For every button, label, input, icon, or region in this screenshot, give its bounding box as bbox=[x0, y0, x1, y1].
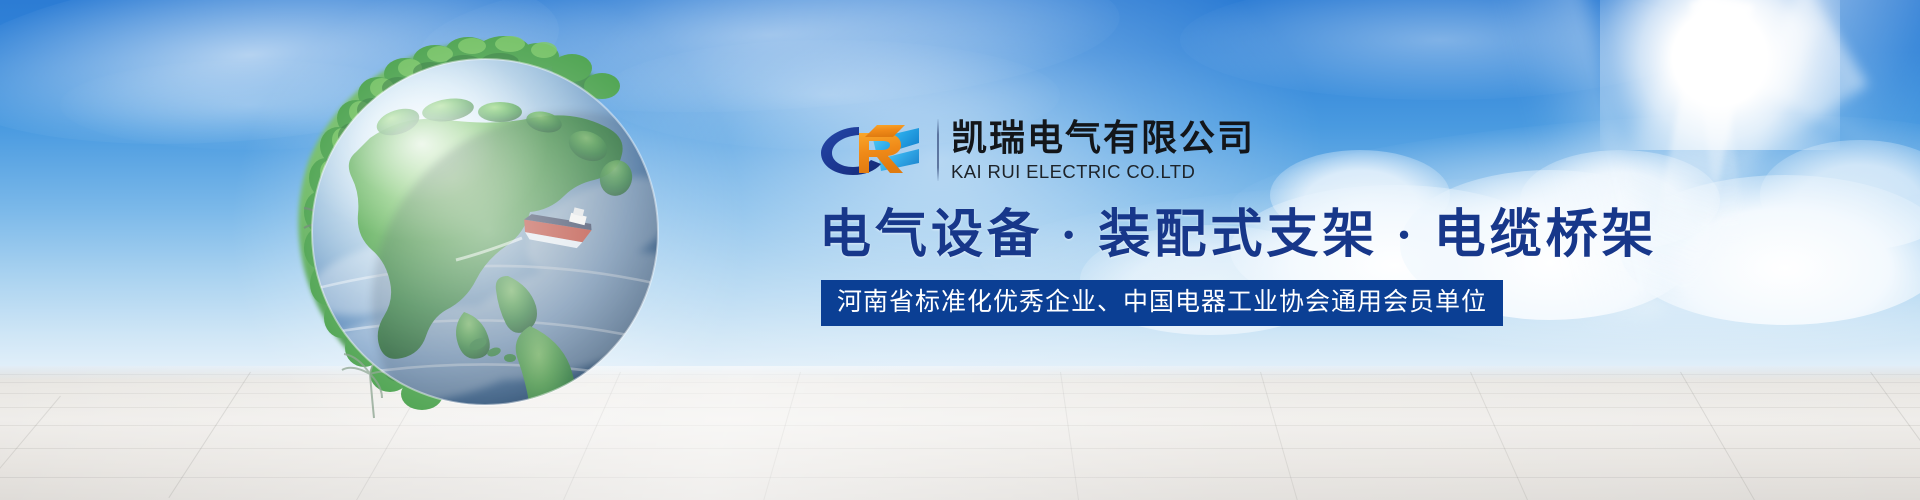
cloud-icon bbox=[1180, 0, 1700, 100]
cr-logo-svg bbox=[815, 119, 927, 181]
banner-slogan: 电气设备 · 装配式支架 · 电缆桥架 bbox=[819, 206, 1495, 266]
company-name-en: KAI RUI ELECTRIC CO.LTD bbox=[951, 161, 1255, 183]
green-earth-globe bbox=[272, 26, 702, 446]
company-name-cn: 凯瑞电气有限公司 bbox=[951, 118, 1255, 158]
promo-banner: 凯瑞电气有限公司 KAI RUI ELECTRIC CO.LTD 电气设备 · … bbox=[0, 0, 1920, 500]
credentials-badge: 河南省标准化优秀企业、中国电器工业协会通用会员单位 bbox=[821, 280, 1503, 326]
cloud-icon bbox=[1760, 140, 1920, 250]
sun-icon bbox=[1600, 0, 1840, 150]
brand-names: 凯瑞电气有限公司 KAI RUI ELECTRIC CO.LTD bbox=[951, 118, 1255, 183]
cr-monogram-logo[interactable] bbox=[815, 119, 927, 181]
brand-row: 凯瑞电气有限公司 KAI RUI ELECTRIC CO.LTD bbox=[815, 112, 1495, 188]
sun-flare-icon bbox=[1750, 0, 1920, 164]
sun-flare-icon bbox=[1643, 0, 1753, 300]
sun-flare-icon bbox=[1690, 0, 1747, 260]
logo-divider bbox=[937, 119, 939, 181]
cloud-icon bbox=[1620, 175, 1920, 325]
globe-glow bbox=[228, 0, 748, 490]
banner-text-block: 凯瑞电气有限公司 KAI RUI ELECTRIC CO.LTD 电气设备 · … bbox=[815, 112, 1495, 326]
sun-flare-icon bbox=[1571, 0, 1819, 324]
sun-flare-icon bbox=[1618, 0, 1868, 175]
